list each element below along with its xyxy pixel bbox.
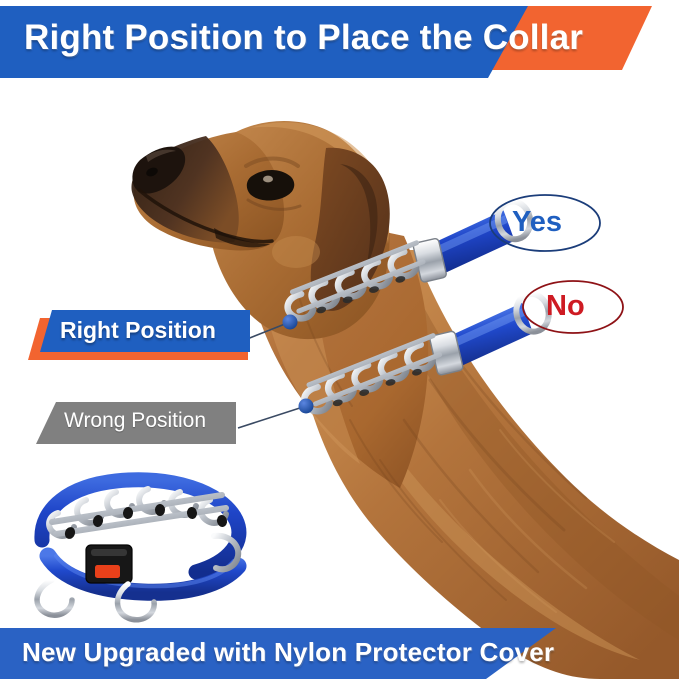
top-banner-title-plain: Right Position to Place the (24, 18, 473, 57)
no-badge-label: No (546, 290, 585, 323)
infographic-canvas: Right Position to Place the Collar New U… (0, 0, 679, 679)
product-photo-group (37, 480, 239, 620)
product-buckle-release-button (95, 565, 120, 578)
dog-cheek-highlight (272, 236, 320, 268)
leader-line-wrong-position (238, 406, 306, 428)
dog-eye-highlight (263, 176, 273, 183)
right-position-label: Right Position (60, 317, 216, 344)
product-buckle-highlight (91, 549, 127, 556)
bottom-banner-title: New Upgraded with Nylon Protector Cover (22, 634, 554, 670)
top-banner-title: Right Position to Place the Collar (24, 16, 583, 60)
leader-dot-right-position (283, 315, 298, 330)
yes-badge-label: Yes (512, 206, 562, 239)
top-banner-title-highlight: Collar (483, 18, 583, 57)
wrong-position-label: Wrong Position (64, 409, 206, 433)
product-d-ring-left (37, 580, 72, 615)
leader-dot-wrong-position (299, 399, 314, 414)
dog-photo (132, 121, 679, 679)
